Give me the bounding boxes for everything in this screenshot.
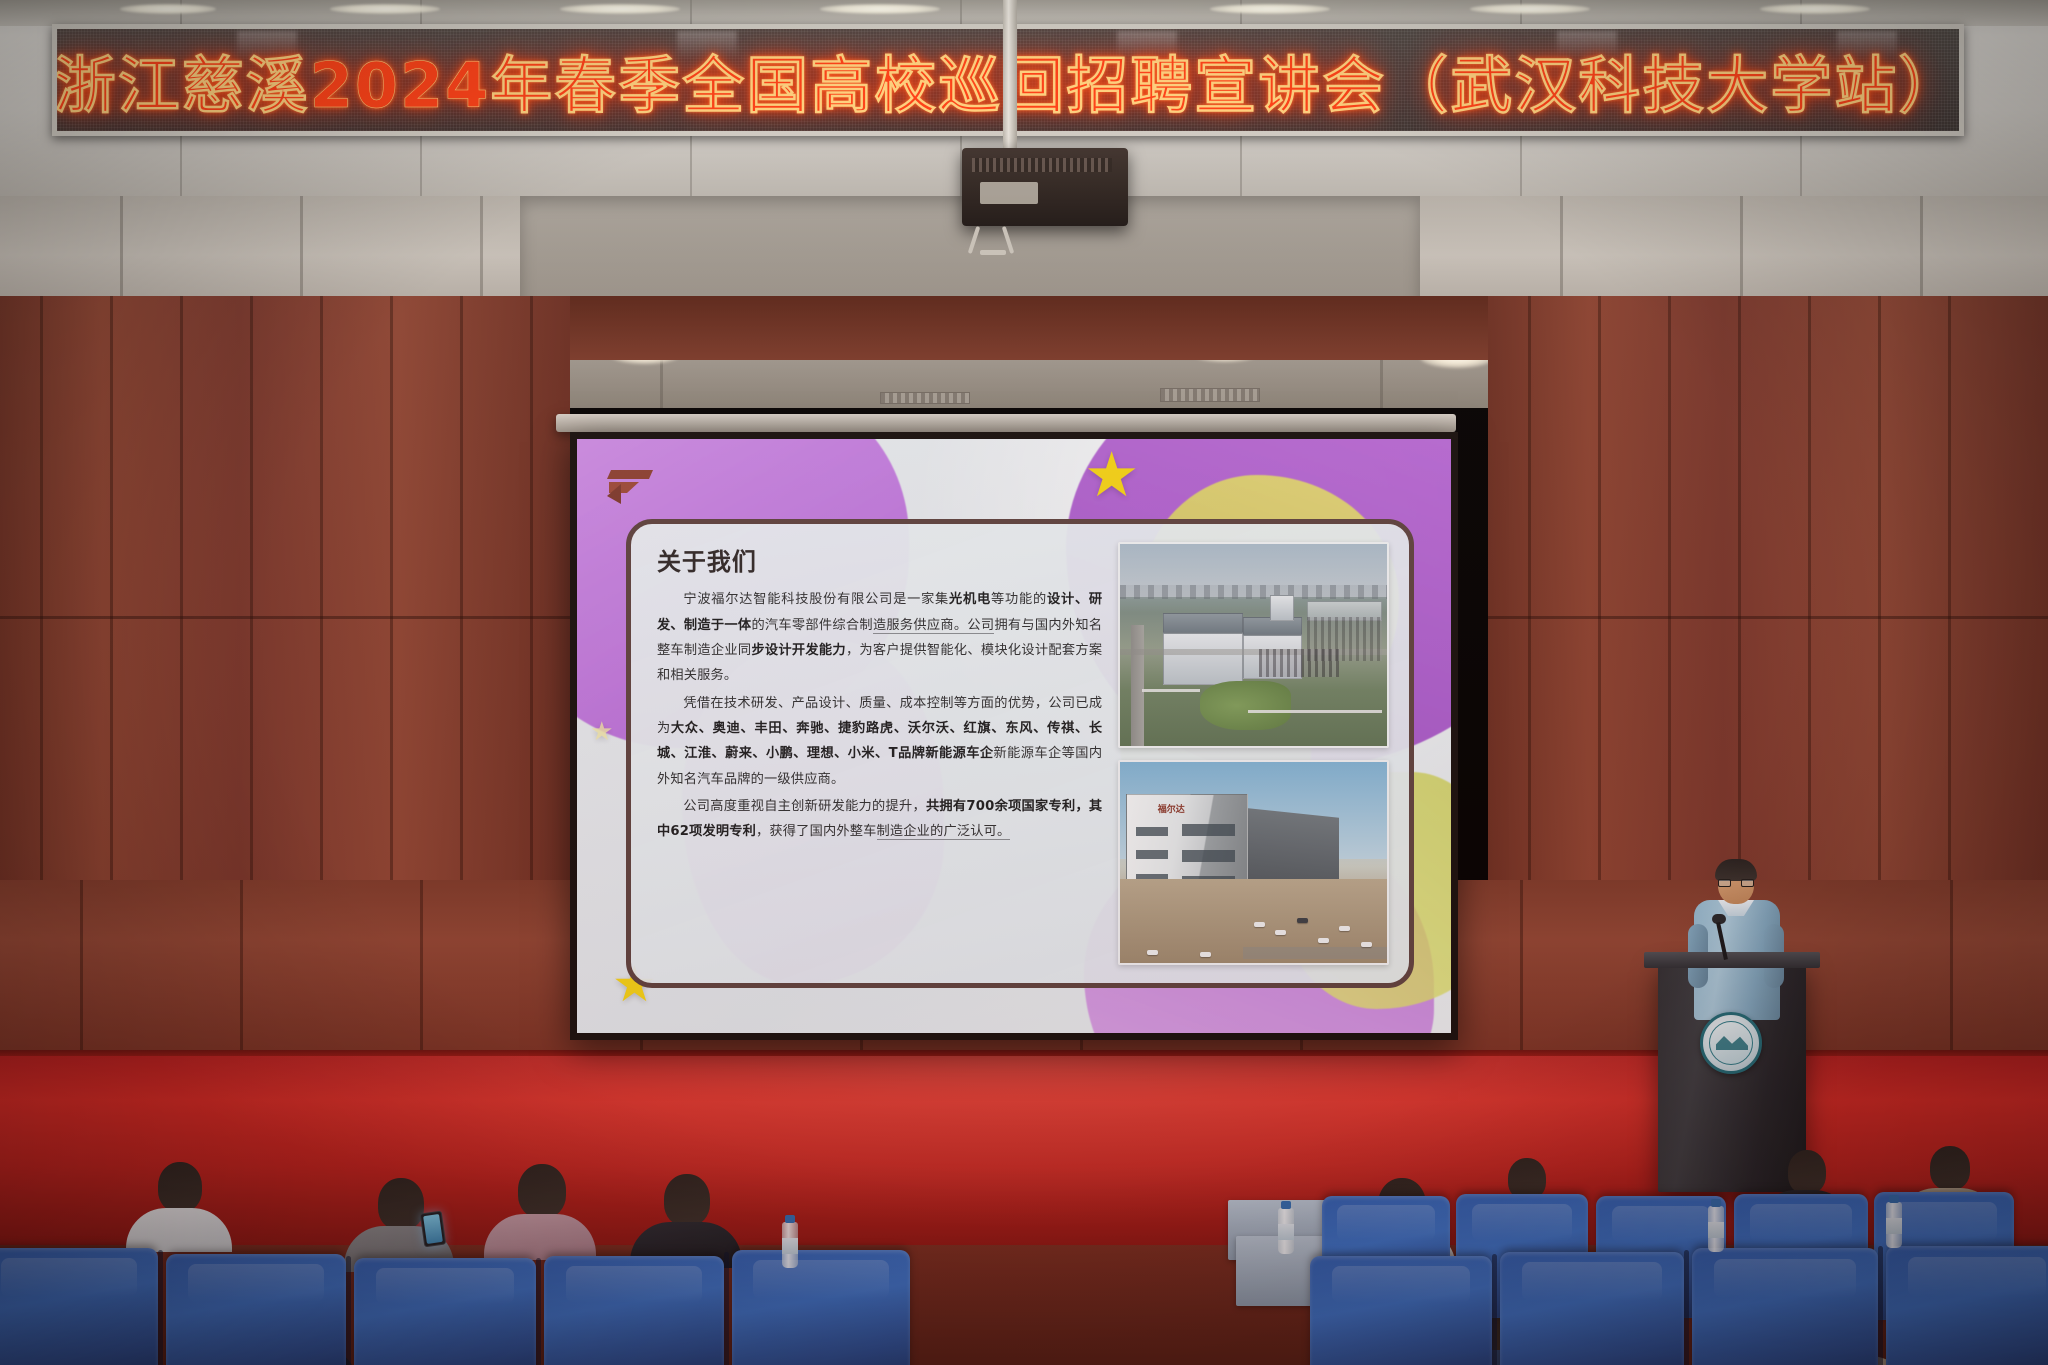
slide-paragraph-2: 凭借在技术研发、产品设计、质量、成本控制等方面的优势，公司已成为大众、奥迪、丰田… — [657, 691, 1102, 792]
presenter-hair — [1715, 859, 1757, 881]
water-bottle — [782, 1222, 798, 1268]
presentation-slide: ★ ★ ★ 关于我们 宁波福尔达智能科技股份有限公司是一家集光机电等功能的设计、… — [577, 439, 1451, 1033]
ceiling-vent — [880, 392, 970, 404]
presenter — [1688, 862, 1786, 1022]
wall-right — [1488, 296, 2048, 896]
seat — [1310, 1256, 1492, 1365]
ceiling-vent — [1160, 388, 1260, 402]
star-icon: ★ — [590, 718, 613, 744]
seat — [354, 1258, 536, 1365]
slide-paragraph-1: 宁波福尔达智能科技股份有限公司是一家集光机电等功能的设计、研发、制造于一体的汽车… — [657, 587, 1102, 688]
seat — [544, 1256, 724, 1365]
slide-text-column: 关于我们 宁波福尔达智能科技股份有限公司是一家集光机电等功能的设计、研发、制造于… — [657, 542, 1102, 965]
seat — [1500, 1252, 1684, 1365]
seat — [166, 1254, 346, 1365]
seat — [1886, 1246, 2048, 1365]
projector-mount-pole — [1003, 0, 1017, 160]
ceiling-top-strip — [0, 0, 2048, 26]
slide-paragraph-3: 公司高度重视自主创新研发能力的提升，共拥有700余项国家专利，其中62项发明专利… — [657, 794, 1102, 845]
star-icon: ★ — [1084, 445, 1140, 507]
smartphone — [420, 1211, 447, 1248]
water-bottle — [1886, 1202, 1902, 1248]
slide-photo-column: 福尔达 — [1118, 542, 1389, 965]
wall-left — [0, 296, 570, 896]
screen-housing — [556, 414, 1456, 432]
photo-aerial-campus — [1118, 542, 1389, 748]
water-bottle — [1278, 1208, 1294, 1254]
auditorium-scene: 浙江慈溪2024年春季全国高校巡回招聘宣讲会（武汉科技大学站） — [0, 0, 2048, 1365]
projector-vents — [972, 158, 1112, 172]
audience-member — [630, 1174, 742, 1264]
water-bottle — [1708, 1206, 1724, 1252]
seat — [0, 1248, 158, 1365]
ceiling-projector — [962, 148, 1128, 226]
seat — [732, 1250, 910, 1365]
factory-logo-text: 福尔达 — [1158, 802, 1185, 815]
photo-factory-building: 福尔达 — [1118, 760, 1389, 966]
audience-member — [126, 1162, 232, 1246]
audience-member — [484, 1164, 596, 1254]
seat — [1692, 1248, 1878, 1365]
podium-top-surface — [1644, 952, 1820, 968]
slide-logo-mark — [605, 466, 657, 506]
projector-bracket — [972, 226, 1052, 256]
projector-label — [980, 182, 1038, 204]
projection-screen: ★ ★ ★ 关于我们 宁波福尔达智能科技股份有限公司是一家集光机电等功能的设计、… — [570, 432, 1458, 1040]
slide-body-text: 宁波福尔达智能科技股份有限公司是一家集光机电等功能的设计、研发、制造于一体的汽车… — [657, 587, 1102, 844]
slide-content-card: 关于我们 宁波福尔达智能科技股份有限公司是一家集光机电等功能的设计、研发、制造于… — [626, 519, 1414, 988]
slide-card-title: 关于我们 — [657, 542, 1102, 577]
university-emblem-icon — [1700, 1012, 1762, 1074]
glasses-icon — [1718, 879, 1754, 887]
